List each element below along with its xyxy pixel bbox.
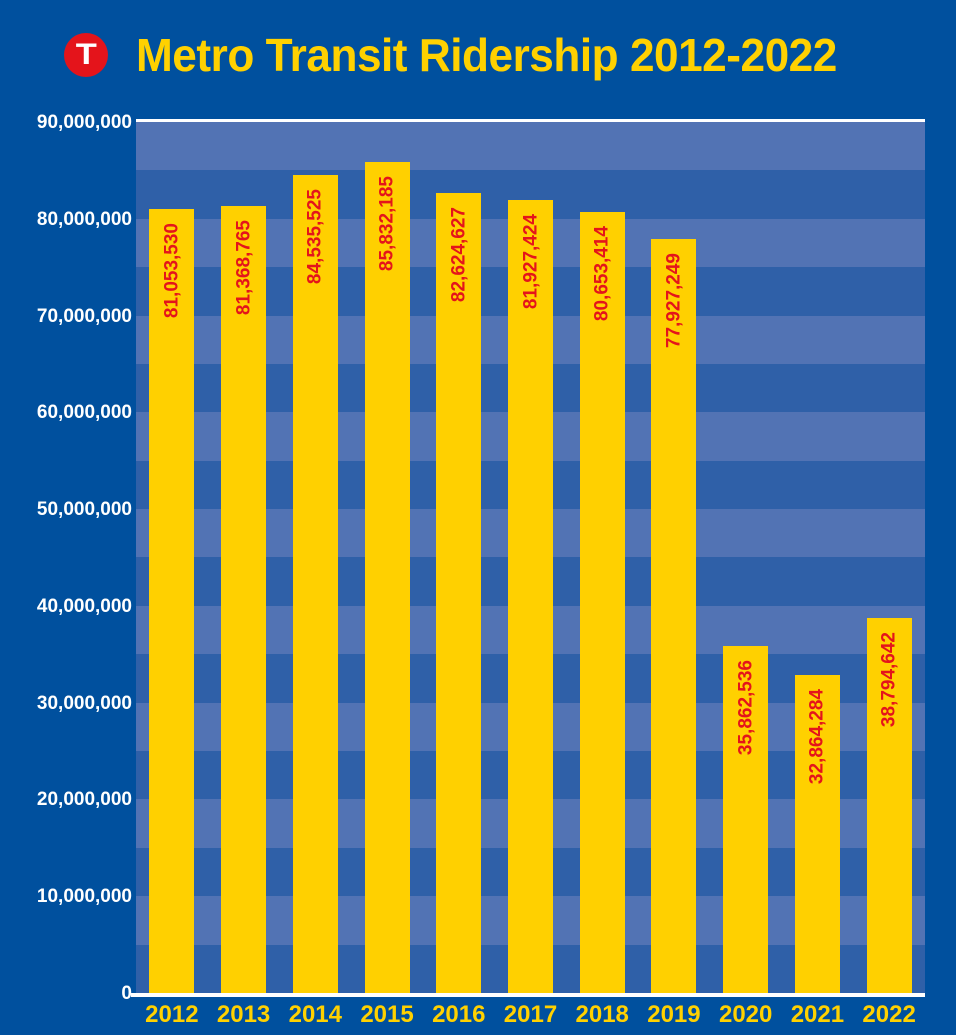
x-axis-tick-label: 2021	[782, 1001, 854, 1029]
bar-value-label: 81,368,765	[234, 220, 253, 315]
x-axis-tick-label: 2015	[351, 1001, 423, 1029]
y-axis-tick-label: 0	[6, 984, 132, 1003]
x-axis-tick-label: 2013	[208, 1001, 280, 1029]
x-axis-tick-label: 2018	[566, 1001, 638, 1029]
bar[interactable]: 77,927,249	[651, 239, 696, 993]
bar-value-label: 35,862,536	[736, 660, 755, 755]
x-axis-tick-label: 2019	[638, 1001, 710, 1029]
top-axis-rule	[136, 119, 925, 122]
chart-container: 90,000,00080,000,00070,000,00060,000,000…	[0, 0, 956, 1035]
y-axis-tick-label: 30,000,000	[6, 694, 132, 713]
x-axis-tick-label: 2022	[853, 1001, 925, 1029]
plot-area: 81,053,53081,368,76584,535,52585,832,185…	[136, 122, 925, 993]
y-axis-tick-label: 60,000,000	[6, 403, 132, 422]
y-axis-tick-label: 40,000,000	[6, 597, 132, 616]
bar-value-label: 81,053,530	[162, 223, 181, 318]
x-axis-tick-label: 2012	[136, 1001, 208, 1029]
bar-value-label: 85,832,185	[378, 176, 397, 271]
bar-value-label: 81,927,424	[521, 214, 540, 309]
y-axis-tick-label: 80,000,000	[6, 210, 132, 229]
y-axis-tick-label: 70,000,000	[6, 307, 132, 326]
y-axis-tick-label: 50,000,000	[6, 500, 132, 519]
y-axis-tick-label: 10,000,000	[6, 887, 132, 906]
bar[interactable]: 35,862,536	[723, 646, 768, 993]
bar-value-label: 80,653,414	[593, 226, 612, 321]
bar[interactable]: 38,794,642	[867, 618, 912, 993]
bar[interactable]: 32,864,284	[795, 675, 840, 993]
y-axis: 90,000,00080,000,00070,000,00060,000,000…	[0, 0, 132, 1035]
bar-value-label: 77,927,249	[664, 253, 683, 348]
bar[interactable]: 80,653,414	[580, 212, 625, 993]
bar[interactable]: 81,927,424	[508, 200, 553, 993]
x-axis: 2012201320142015201620172018201920202021…	[136, 997, 925, 1035]
bar[interactable]: 84,535,525	[293, 175, 338, 993]
x-axis-tick-label: 2017	[495, 1001, 567, 1029]
bar-value-label: 82,624,627	[449, 207, 468, 302]
y-axis-tick-label: 90,000,000	[6, 113, 132, 132]
x-axis-tick-label: 2014	[279, 1001, 351, 1029]
x-axis-tick-label: 2020	[710, 1001, 782, 1029]
bar[interactable]: 81,053,530	[149, 209, 194, 993]
y-axis-tick-label: 20,000,000	[6, 790, 132, 809]
bar-value-label: 84,535,525	[306, 189, 325, 284]
bar[interactable]: 85,832,185	[365, 162, 410, 993]
bar-value-label: 32,864,284	[808, 689, 827, 784]
background-band	[136, 122, 925, 170]
bar[interactable]: 81,368,765	[221, 206, 266, 993]
bar-value-label: 38,794,642	[880, 632, 899, 727]
x-axis-tick-label: 2016	[423, 1001, 495, 1029]
bar[interactable]: 82,624,627	[436, 193, 481, 993]
